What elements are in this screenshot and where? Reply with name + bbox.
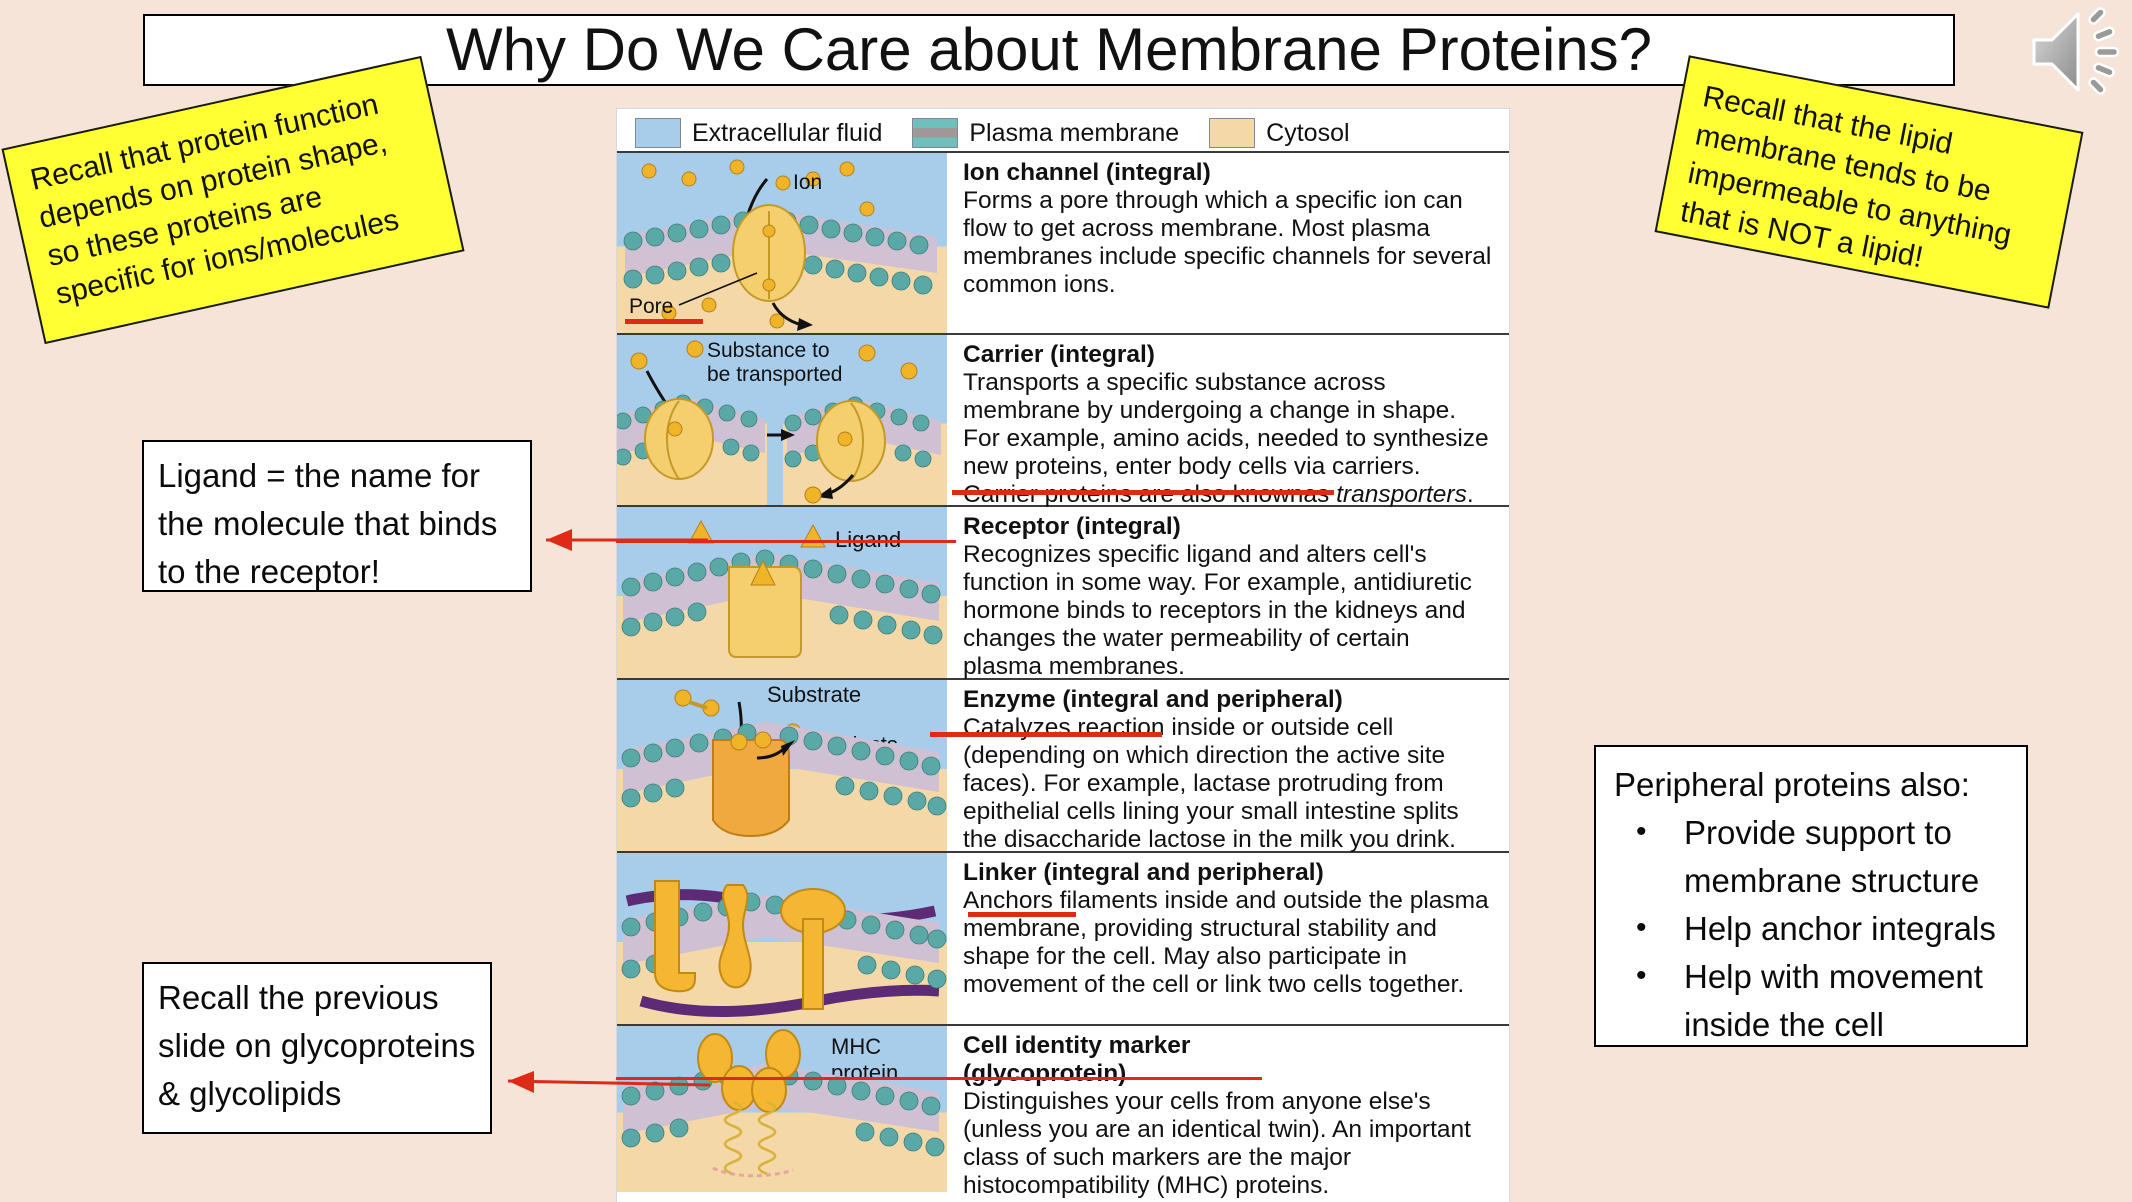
text-carrier: Carrier (integral) Transports a specific… xyxy=(947,335,1509,505)
row-heading-line2: (glycoprotein) xyxy=(963,1060,1126,1087)
diagram-row-enzyme: Substrate Products xyxy=(617,678,1509,851)
peripheral-heading: Peripheral proteins also: xyxy=(1614,761,2010,809)
diagram-legend: Extracellular fluid Plasma membrane Cyto… xyxy=(617,109,1509,151)
arrow-glyco-pointer xyxy=(482,1063,712,1103)
legend-swatch-extracellular-icon xyxy=(635,118,681,148)
legend-item-extracellular: Extracellular fluid xyxy=(635,118,912,148)
callout-ligand-text: Ligand = the name for the molecule that … xyxy=(158,457,497,590)
row-body: Forms a pore through which a specific io… xyxy=(963,187,1491,298)
diagram-row-carrier: Substance to be transported xyxy=(617,333,1509,505)
list-item: Help with movement inside the cell xyxy=(1622,953,2010,1049)
sticky-note-right-text: Recall that the lipid membrane tends to … xyxy=(1678,80,2014,274)
page-title: Why Do We Care about Membrane Proteins? xyxy=(446,19,1652,81)
diagram-row-cell-identity-marker: MHC protein xyxy=(617,1024,1509,1192)
figure-ion-channel: Ion xyxy=(617,153,947,333)
text-linker: Linker (integral and peripheral) Anchors… xyxy=(947,853,1509,1024)
callout-glyco-text: Recall the previous slide on glycoprotei… xyxy=(158,979,475,1112)
sticky-note-protein-shape[interactable]: Recall that protein function depends on … xyxy=(1,56,464,344)
text-receptor: Receptor (integral) Recognizes specific … xyxy=(947,507,1509,678)
figure-carrier: Substance to be transported xyxy=(617,335,947,505)
legend-label: Extracellular fluid xyxy=(692,119,882,148)
diagram-row-receptor: Ligand xyxy=(617,505,1509,678)
figure-cell-identity-marker: MHC protein xyxy=(617,1026,947,1192)
svg-text:Substance to: Substance to xyxy=(707,339,830,362)
svg-text:Substrate: Substrate xyxy=(767,682,861,707)
legend-item-cytosol: Cytosol xyxy=(1209,118,1379,148)
row-heading: Carrier (integral) xyxy=(963,341,1155,368)
row-heading: Enzyme (integral and peripheral) xyxy=(963,686,1343,713)
list-item: Help anchor integrals xyxy=(1622,905,2010,953)
svg-text:Pore: Pore xyxy=(629,295,673,318)
text-enzyme: Enzyme (integral and peripheral) Catalyz… xyxy=(947,680,1509,851)
membrane-protein-diagram: Extracellular fluid Plasma membrane Cyto… xyxy=(616,108,1510,1202)
row-body: Anchors filaments inside and outside the… xyxy=(963,887,1489,998)
sticky-note-left-text: Recall that protein function depends on … xyxy=(27,88,401,311)
text-cell-identity-marker: Cell identity marker (glycoprotein) Dist… xyxy=(947,1026,1509,1192)
row-body: Recognizes specific ligand and alters ce… xyxy=(963,541,1472,680)
highlight-stroke-catalyzes xyxy=(930,732,1162,737)
figure-linker xyxy=(617,853,947,1024)
row-body: Distinguishes your cells from anyone els… xyxy=(963,1088,1471,1199)
row-heading: Linker (integral and peripheral) xyxy=(963,859,1324,886)
text-ion-channel: Ion channel (integral) Forms a pore thro… xyxy=(947,153,1509,333)
arrow-ligand-pointer xyxy=(520,520,710,560)
legend-label: Cytosol xyxy=(1266,119,1349,148)
legend-item-plasma-membrane: Plasma membrane xyxy=(912,118,1209,148)
svg-text:Ion: Ion xyxy=(793,171,822,194)
slide-canvas: Why Do We Care about Membrane Proteins? … xyxy=(0,0,2132,1202)
svg-text:be transported: be transported xyxy=(707,363,842,386)
figure-enzyme: Substrate Products xyxy=(617,680,947,851)
row-body-part2: . xyxy=(1467,481,1474,508)
callout-glycoproteins[interactable]: Recall the previous slide on glycoprotei… xyxy=(142,962,492,1134)
callout-ligand[interactable]: Ligand = the name for the molecule that … xyxy=(142,440,532,592)
speaker-audio-icon[interactable] xyxy=(2020,4,2124,100)
diagram-row-ion-channel: Ion xyxy=(617,151,1509,333)
list-item: Provide support to membrane structure xyxy=(1622,809,2010,905)
highlight-stroke-glycoprotein xyxy=(616,1077,1262,1080)
svg-text:MHC: MHC xyxy=(831,1034,881,1059)
diagram-row-linker: Linker (integral and peripheral) Anchors… xyxy=(617,851,1509,1024)
row-heading-line1: Cell identity marker xyxy=(963,1032,1190,1059)
row-body-italic: transporters xyxy=(1336,481,1467,508)
legend-label: Plasma membrane xyxy=(969,119,1179,148)
peripheral-bullet-list: Provide support to membrane structure He… xyxy=(1614,809,2010,1049)
highlight-stroke-anchors xyxy=(968,912,1076,917)
row-heading: Receptor (integral) xyxy=(963,513,1181,540)
row-heading: Ion channel (integral) xyxy=(963,159,1211,186)
callout-peripheral-proteins[interactable]: Peripheral proteins also: Provide suppor… xyxy=(1594,745,2028,1047)
highlight-stroke-transporters xyxy=(952,490,1334,495)
legend-swatch-cytosol-icon xyxy=(1209,118,1255,148)
legend-swatch-membrane-icon xyxy=(912,118,958,148)
